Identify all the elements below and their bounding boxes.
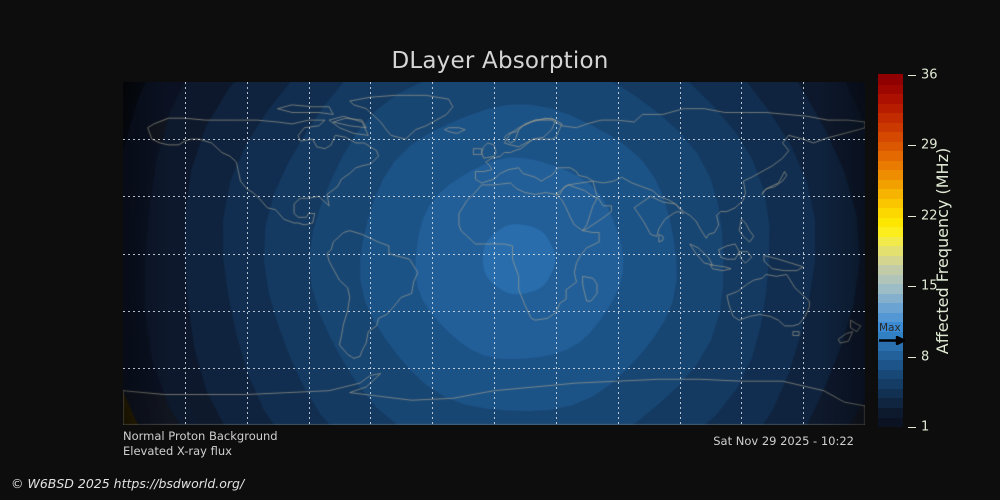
colorbar-tick-mark — [908, 75, 916, 76]
colorbar-band — [878, 208, 903, 218]
colorbar-band — [878, 369, 903, 379]
colorbar-tick-mark — [908, 216, 916, 217]
timestamp-label: Sat Nov 29 2025 - 10:22 — [713, 434, 854, 448]
colorbar-band — [878, 93, 903, 103]
colorbar-band — [878, 360, 903, 370]
colorbar-tick-mark — [908, 145, 916, 146]
colorbar-tick-mark — [908, 427, 916, 428]
colorbar-band — [878, 246, 903, 256]
colorbar-band — [878, 236, 903, 246]
colorbar-band — [878, 112, 903, 122]
colorbar-band — [878, 198, 903, 208]
colorbar-band — [878, 398, 903, 408]
xray-status-text: Elevated X-ray flux — [123, 444, 278, 459]
colorbar-band — [878, 265, 903, 275]
colorbar-band — [878, 84, 903, 94]
colorbar-band — [878, 160, 903, 170]
colorbar-band — [878, 341, 903, 351]
colorbar-band — [878, 122, 903, 132]
colorbar-tick-label: 8 — [921, 350, 929, 363]
colorbar-band — [878, 103, 903, 113]
colorbar-band — [878, 179, 903, 189]
colorbar-band — [878, 293, 903, 303]
colorbar-band — [878, 312, 903, 322]
colorbar-band — [878, 303, 903, 313]
colorbar-band — [878, 151, 903, 161]
status-annotations: Normal Proton Background Elevated X-ray … — [123, 429, 278, 459]
colorbar-band — [878, 379, 903, 389]
colorbar-band — [878, 217, 903, 227]
copyright-footer: © W6BSD 2025 https://bsdworld.org/ — [11, 476, 244, 491]
colorbar-gradient-strip[interactable] — [878, 75, 903, 427]
colorbar-band — [878, 331, 903, 341]
colorbar-band — [878, 227, 903, 237]
colorbar-axis-label: Affected Frequency (MHz) — [930, 75, 955, 427]
colorbar-tick-mark — [908, 357, 916, 358]
colorbar-band — [878, 284, 903, 294]
colorbar-band — [878, 132, 903, 142]
colorbar-band — [878, 189, 903, 199]
colorbar-band — [878, 388, 903, 398]
colorbar-band — [878, 274, 903, 284]
colorbar-tick-mark — [908, 286, 916, 287]
colorbar-band — [878, 74, 903, 84]
colorbar-band — [878, 407, 903, 417]
absorption-map-canvas[interactable] — [123, 82, 865, 425]
colorbar-band — [878, 417, 903, 427]
colorbar-tick-label: 1 — [921, 421, 929, 434]
colorbar-band — [878, 170, 903, 180]
page-title: DLayer Absorption — [0, 48, 1000, 74]
proton-status-text: Normal Proton Background — [123, 429, 278, 444]
colorbar-band — [878, 141, 903, 151]
colorbar-band — [878, 255, 903, 265]
world-map-panel[interactable] — [123, 82, 865, 425]
colorbar[interactable]: 1815222936 Max Affected Frequency (MHz) — [878, 75, 1000, 427]
colorbar-band — [878, 350, 903, 360]
colorbar-band — [878, 322, 903, 332]
